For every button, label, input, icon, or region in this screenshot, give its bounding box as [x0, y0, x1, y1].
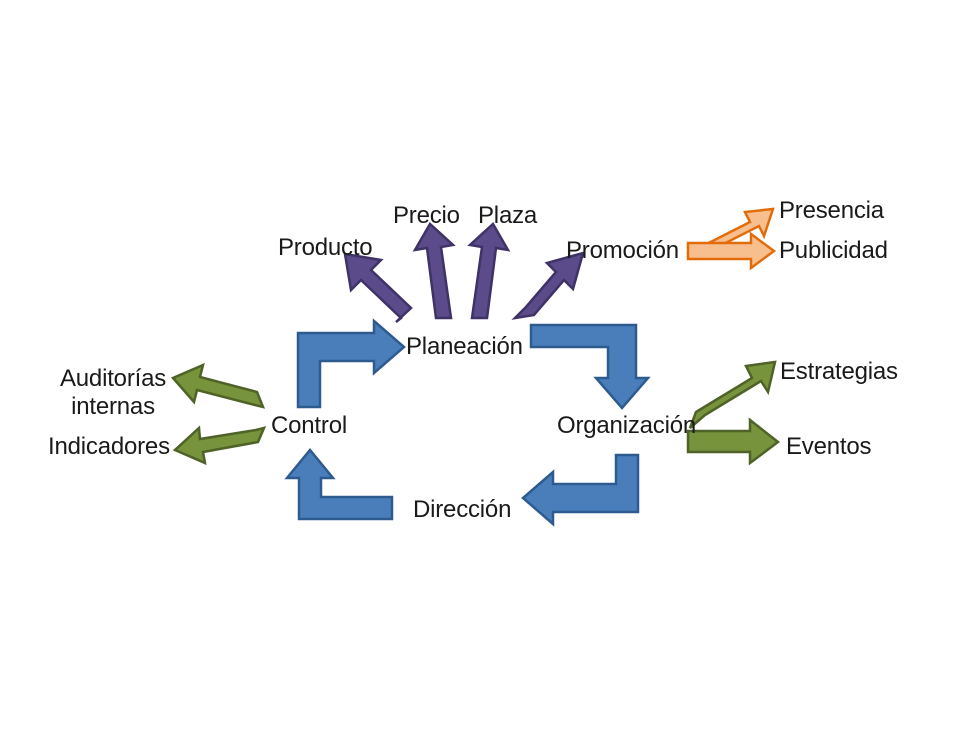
label-plaza: Plaza: [478, 202, 537, 230]
cycle-arrow-organizacion-to-direccion: [523, 455, 638, 524]
branch-arrow-eventos: [688, 420, 778, 463]
label-producto: Producto: [278, 234, 372, 262]
label-indicadores: Indicadores: [48, 433, 170, 461]
label-eventos: Eventos: [786, 433, 871, 461]
label-estrategias: Estrategias: [780, 358, 898, 386]
branch-arrow-indicadores: [175, 428, 264, 463]
branch-arrow-plaza: [470, 224, 508, 318]
cycle-node-direccion: Dirección: [413, 496, 511, 524]
cycle-node-control: Control: [271, 412, 347, 440]
label-presencia: Presencia: [779, 197, 884, 225]
label-auditorias-internas: Auditorías internas: [58, 365, 168, 421]
branch-arrow-producto: [345, 254, 411, 322]
branch-arrow-estrategias: [690, 362, 775, 428]
label-publicidad: Publicidad: [779, 237, 888, 265]
cycle-node-organizacion: Organización: [557, 412, 696, 440]
label-promocion: Promoción: [566, 237, 679, 265]
cycle-arrow-direccion-to-control: [287, 450, 392, 519]
cycle-arrow-control-to-planeacion: [298, 321, 404, 407]
cycle-node-planeacion: Planeación: [406, 333, 523, 361]
diagram-canvas: Producto Precio Plaza Promoción Presenci…: [0, 0, 980, 735]
branch-arrow-precio: [415, 224, 453, 318]
cycle-arrow-planeacion-to-organizacion: [531, 325, 648, 408]
label-precio: Precio: [393, 202, 460, 230]
branch-arrow-auditorias-internas: [173, 365, 263, 407]
